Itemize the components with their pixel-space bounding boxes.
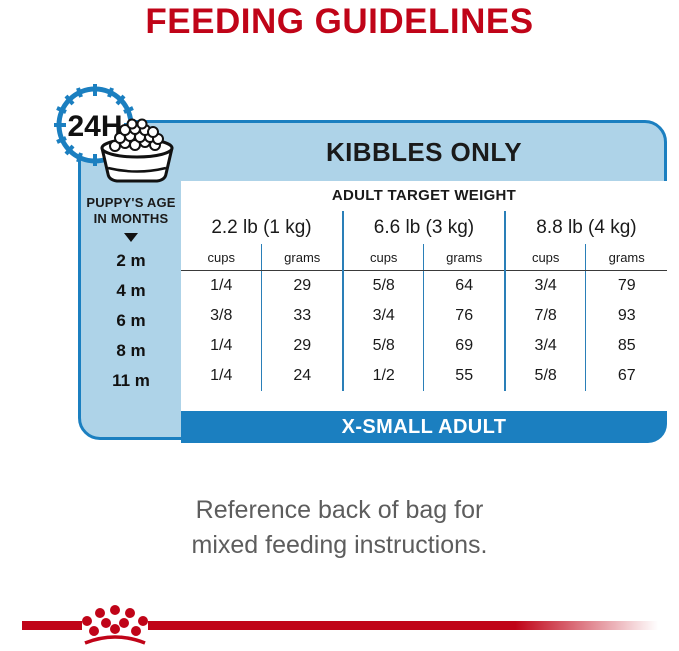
cell-2m-w3-grams: 79 [586, 271, 667, 302]
age-item-4m: 4 m [81, 276, 181, 306]
down-triangle-icon [124, 233, 138, 242]
cell-4m-w2-cups: 3/4 [343, 301, 424, 331]
cell-8m-w2-grams: 55 [424, 361, 505, 391]
brand-footer [0, 600, 679, 650]
cell-6m-w3-grams: 85 [586, 331, 667, 361]
cell-8m-w1-grams: 24 [262, 361, 343, 391]
cell-6m-w1-grams: 29 [262, 331, 343, 361]
table-row: 1/4 29 5/8 69 3/4 85 [181, 331, 667, 361]
unit-header-grams-1: grams [262, 244, 343, 271]
table-row: 1/4 29 5/8 64 3/4 79 [181, 271, 667, 302]
cell-6m-w2-cups: 5/8 [343, 331, 424, 361]
footer-rule-right [148, 621, 658, 630]
cell-2m-w2-cups: 5/8 [343, 271, 424, 302]
cell-2m-w1-cups: 1/4 [181, 271, 262, 302]
unit-header-cups-3: cups [505, 244, 586, 271]
unit-header-cups-1: cups [181, 244, 262, 271]
weight-header-1: 2.2 lb (1 kg) [181, 211, 343, 244]
unit-header-grams-2: grams [424, 244, 505, 271]
adult-target-weight-header: ADULT TARGET WEIGHT [181, 181, 667, 211]
cell-4m-w1-cups: 3/8 [181, 301, 262, 331]
age-item-11m: 11 m [81, 366, 181, 396]
cell-2m-w3-cups: 3/4 [505, 271, 586, 302]
clock-24h-icon: 24H [45, 82, 195, 187]
unit-header-cups-2: cups [343, 244, 424, 271]
unit-header-row: cups grams cups grams cups grams [181, 244, 667, 271]
footer-rule-left [22, 621, 82, 630]
weight-header-row: 2.2 lb (1 kg) 6.6 lb (3 kg) 8.8 lb (4 kg… [181, 211, 667, 244]
cell-2m-w2-grams: 64 [424, 271, 505, 302]
page-title: FEEDING GUIDELINES [0, 0, 679, 44]
unit-header-grams-3: grams [586, 244, 667, 271]
kibbles-only-header: KIBBLES ONLY [181, 123, 667, 181]
footer-note: Reference back of bag for mixed feeding … [0, 493, 679, 563]
royal-canin-crown-logo [75, 604, 155, 646]
table-row: 3/8 33 3/4 76 7/8 93 [181, 301, 667, 331]
puppy-age-title-line2: IN MONTHS [81, 211, 181, 227]
cell-4m-w1-grams: 33 [262, 301, 343, 331]
cell-8m-w3-cups: 5/8 [505, 361, 586, 391]
cell-6m-w3-cups: 3/4 [505, 331, 586, 361]
weight-header-2: 6.6 lb (3 kg) [343, 211, 505, 244]
age-item-8m: 8 m [81, 336, 181, 366]
footer-note-line1: Reference back of bag for [0, 493, 679, 528]
cell-8m-w2-cups: 1/2 [343, 361, 424, 391]
weight-header-3: 8.8 lb (4 kg) [505, 211, 667, 244]
feeding-table: ADULT TARGET WEIGHT 2.2 lb (1 kg) 6.6 lb… [181, 181, 667, 411]
cell-6m-w1-cups: 1/4 [181, 331, 262, 361]
age-item-6m: 6 m [81, 306, 181, 336]
cell-4m-w2-grams: 76 [424, 301, 505, 331]
x-small-adult-band: X-SMALL ADULT [181, 411, 667, 443]
cell-2m-w1-grams: 29 [262, 271, 343, 302]
feeding-values-table: 2.2 lb (1 kg) 6.6 lb (3 kg) 8.8 lb (4 kg… [181, 211, 667, 391]
cell-4m-w3-grams: 93 [586, 301, 667, 331]
table-row: 1/4 24 1/2 55 5/8 67 [181, 361, 667, 391]
puppy-age-title: PUPPY'S AGE IN MONTHS [81, 181, 181, 227]
footer-note-line2: mixed feeding instructions. [0, 528, 679, 563]
puppy-age-title-line1: PUPPY'S AGE [81, 195, 181, 211]
cell-8m-w1-cups: 1/4 [181, 361, 262, 391]
cell-6m-w2-grams: 69 [424, 331, 505, 361]
cell-4m-w3-cups: 7/8 [505, 301, 586, 331]
age-item-2m: 2 m [81, 246, 181, 276]
cell-8m-w3-grams: 67 [586, 361, 667, 391]
puppy-age-column: PUPPY'S AGE IN MONTHS 2 m 4 m 6 m 8 m 11… [81, 181, 181, 396]
